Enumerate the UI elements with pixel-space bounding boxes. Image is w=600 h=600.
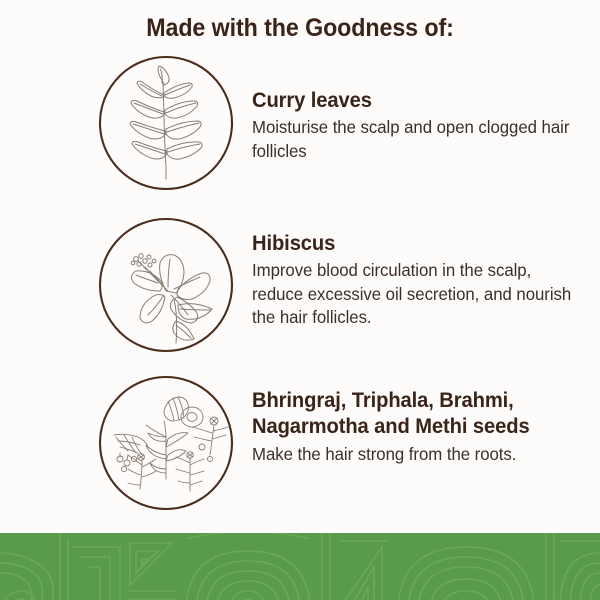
footer-band	[0, 533, 600, 600]
ingredient-row: Bhringraj, Triphala, Brahmi, Nagarmotha …	[0, 375, 600, 535]
hibiscus-flower-icon	[98, 217, 234, 353]
curry-leaf-sprig-icon	[98, 55, 234, 191]
ingredient-name: Curry leaves	[252, 88, 578, 114]
ingredient-copy: Curry leaves Moisturise the scalp and op…	[252, 55, 592, 163]
ingredient-list: Curry leaves Moisturise the scalp and op…	[0, 55, 600, 535]
ingredients-infographic: Made with the Goodness of:	[0, 0, 600, 600]
ingredient-description: Make the hair strong from the roots.	[252, 443, 578, 466]
ingredient-description: Improve blood circulation in the scalp, …	[252, 259, 578, 328]
ingredient-row: Hibiscus Improve blood circulation in th…	[0, 217, 600, 375]
ingredient-name: Bhringraj, Triphala, Brahmi, Nagarmotha …	[252, 388, 578, 441]
ingredient-description: Moisturise the scalp and open clogged ha…	[252, 116, 578, 162]
ingredient-name: Hibiscus	[252, 231, 578, 257]
mixed-herbs-icon	[98, 375, 234, 511]
ingredient-copy: Bhringraj, Triphala, Brahmi, Nagarmotha …	[252, 375, 592, 466]
ingredient-row: Curry leaves Moisturise the scalp and op…	[0, 55, 600, 217]
concentric-swirl-pattern	[0, 533, 600, 600]
ingredient-copy: Hibiscus Improve blood circulation in th…	[252, 217, 592, 329]
page-title: Made with the Goodness of:	[21, 14, 579, 43]
